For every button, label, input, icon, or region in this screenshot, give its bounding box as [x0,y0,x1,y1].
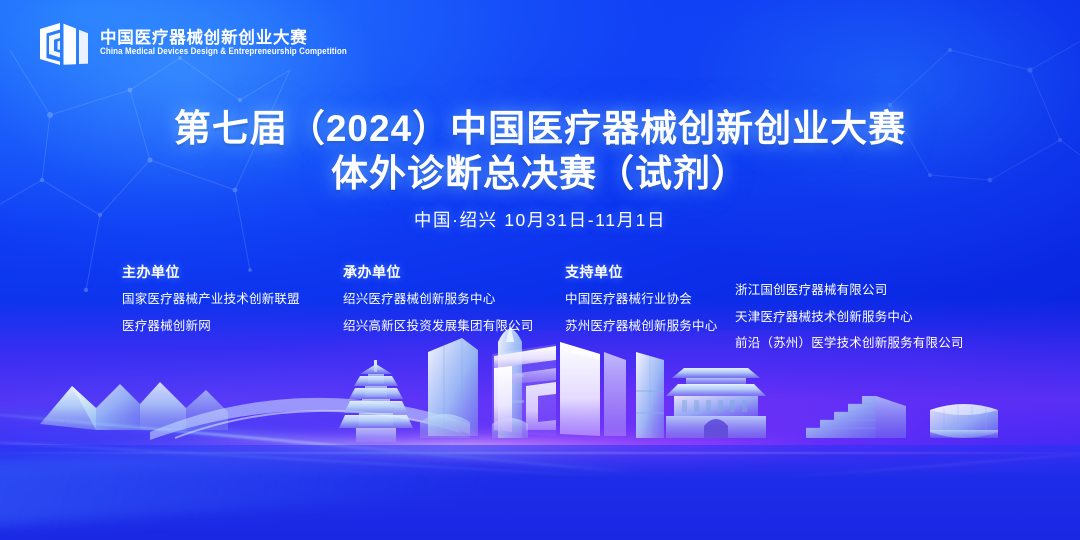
event-location-date: 中国·绍兴 10月31日-11月1日 [0,207,1080,232]
organizer-item: 中国医疗器械行业协会 [565,293,717,306]
title-block: 第七届（2024）中国医疗器械创新创业大赛 体外诊断总决赛（试剂） 中国·绍兴 … [0,106,1080,232]
organizer-column-host: 主办单位 国家医疗器械产业技术创新联盟 医疗器械创新网 [122,262,300,346]
organizer-column-undertaker: 承办单位 绍兴医疗器械创新服务中心 绍兴高新区投资发展集团有限公司 [343,262,534,346]
organizer-heading: 支持单位 [565,262,717,282]
organizer-column-support: 支持单位 中国医疗器械行业协会 苏州医疗器械创新服务中心 [565,262,717,346]
organizer-heading: 承办单位 [343,262,534,282]
organizer-item: 浙江国创医疗器械有限公司 [735,284,964,297]
logo-title-en: China Medical Devices Design & Entrepren… [100,48,347,58]
brand-logo: 中国医疗器械创新创业大赛 China Medical Devices Desig… [38,20,347,66]
organizer-item: 绍兴高新区投资发展集团有限公司 [343,320,534,333]
title-line-2: 体外诊断总决赛（试剂） [0,151,1080,196]
logo-title-cn: 中国医疗器械创新创业大赛 [100,29,347,47]
organizer-item: 前沿（苏州）医学技术创新服务有限公司 [735,337,964,350]
organizer-column-support-extra: 浙江国创医疗器械有限公司 天津医疗器械技术创新服务中心 前沿（苏州）医学技术创新… [735,284,964,364]
organizers-block: 主办单位 国家医疗器械产业技术创新联盟 医疗器械创新网 承办单位 绍兴医疗器械创… [0,262,1080,362]
organizer-item: 医疗器械创新网 [122,320,300,333]
organizer-item: 天津医疗器械技术创新服务中心 [735,311,964,324]
organizer-item: 苏州医疗器械创新服务中心 [565,320,717,333]
organizer-item: 国家医疗器械产业技术创新联盟 [122,293,300,306]
title-line-1: 第七届（2024）中国医疗器械创新创业大赛 [0,106,1080,151]
open-book-door-logo-icon [38,20,90,66]
organizer-item: 绍兴医疗器械创新服务中心 [343,293,534,306]
competition-banner: 中国医疗器械创新创业大赛 China Medical Devices Desig… [0,0,1080,540]
organizer-heading: 主办单位 [122,262,300,282]
